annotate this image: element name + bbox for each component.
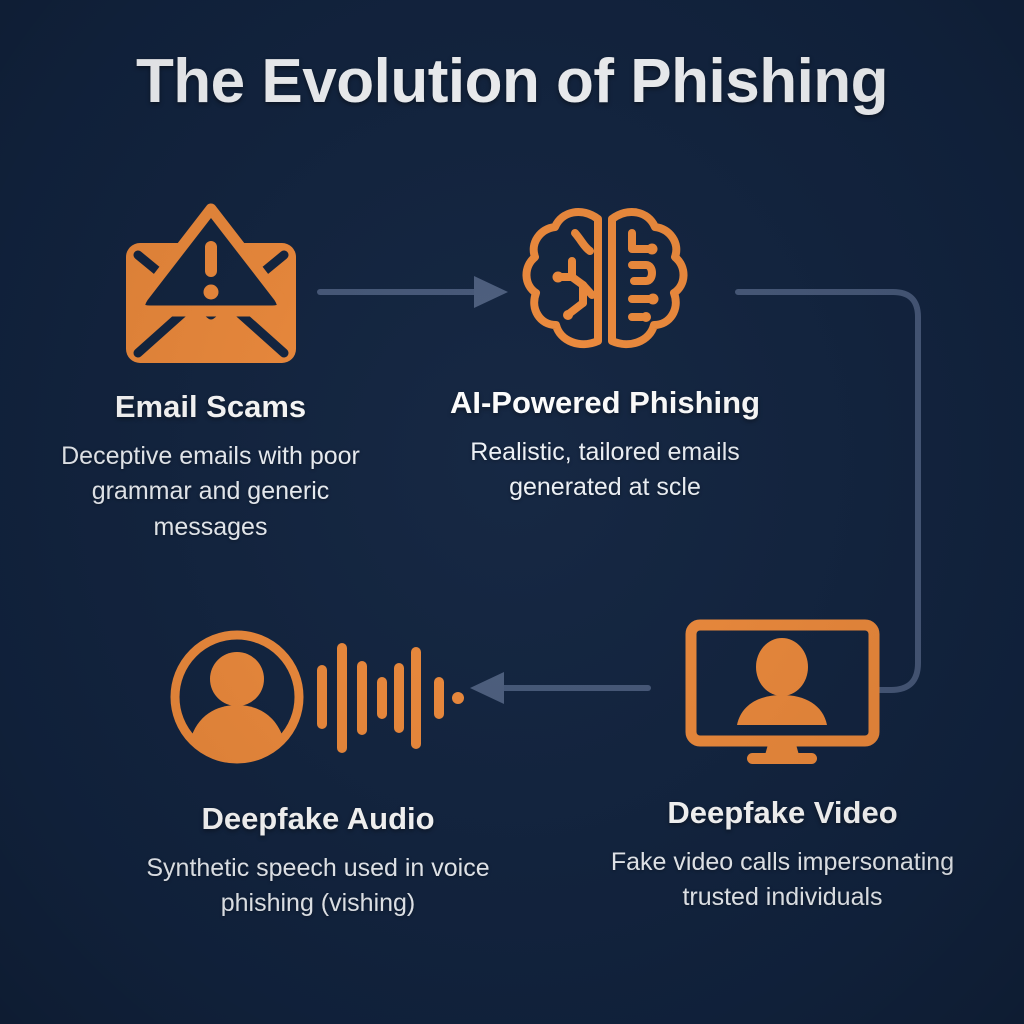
person-voice-waveform-icon <box>167 627 432 767</box>
node-title-deepfake-audio: Deepfake Audio <box>128 798 508 841</box>
node-description-deepfake-video: Fake video calls impersonating trusted i… <box>600 845 965 916</box>
node-ai-powered-phishing: AI-Powered Phishing Realistic, tailored … <box>430 196 780 506</box>
node-deepfake-video: Deepfake Video Fake video calls imperson… <box>600 606 965 916</box>
node-title-ai-powered-phishing: AI-Powered Phishing <box>430 382 780 425</box>
icon-wrap-deepfake-video <box>600 606 965 776</box>
icon-wrap-deepfake-audio <box>128 612 508 782</box>
node-deepfake-audio: Deepfake Audio Synthetic speech used in … <box>128 612 508 922</box>
node-title-email-scams: Email Scams <box>38 386 383 429</box>
icon-wrap-email-scams <box>38 200 383 370</box>
monitor-person-icon <box>685 619 880 764</box>
infographic-canvas: The Evolution of Phishing <box>0 0 1024 1024</box>
node-title-deepfake-video: Deepfake Video <box>600 792 965 835</box>
node-description-deepfake-audio: Synthetic speech used in voice phishing … <box>128 851 508 922</box>
waveform-tail-icon <box>430 627 470 767</box>
icon-wrap-ai-powered-phishing <box>430 196 780 366</box>
node-description-ai-powered-phishing: Realistic, tailored emails generated at … <box>430 435 780 506</box>
page-title: The Evolution of Phishing <box>0 46 1024 117</box>
brain-circuit-icon <box>520 199 690 364</box>
envelope-warning-icon <box>116 203 306 368</box>
node-description-email-scams: Deceptive emails with poor grammar and g… <box>38 439 383 546</box>
node-email-scams: Email Scams Deceptive emails with poor g… <box>38 200 383 545</box>
